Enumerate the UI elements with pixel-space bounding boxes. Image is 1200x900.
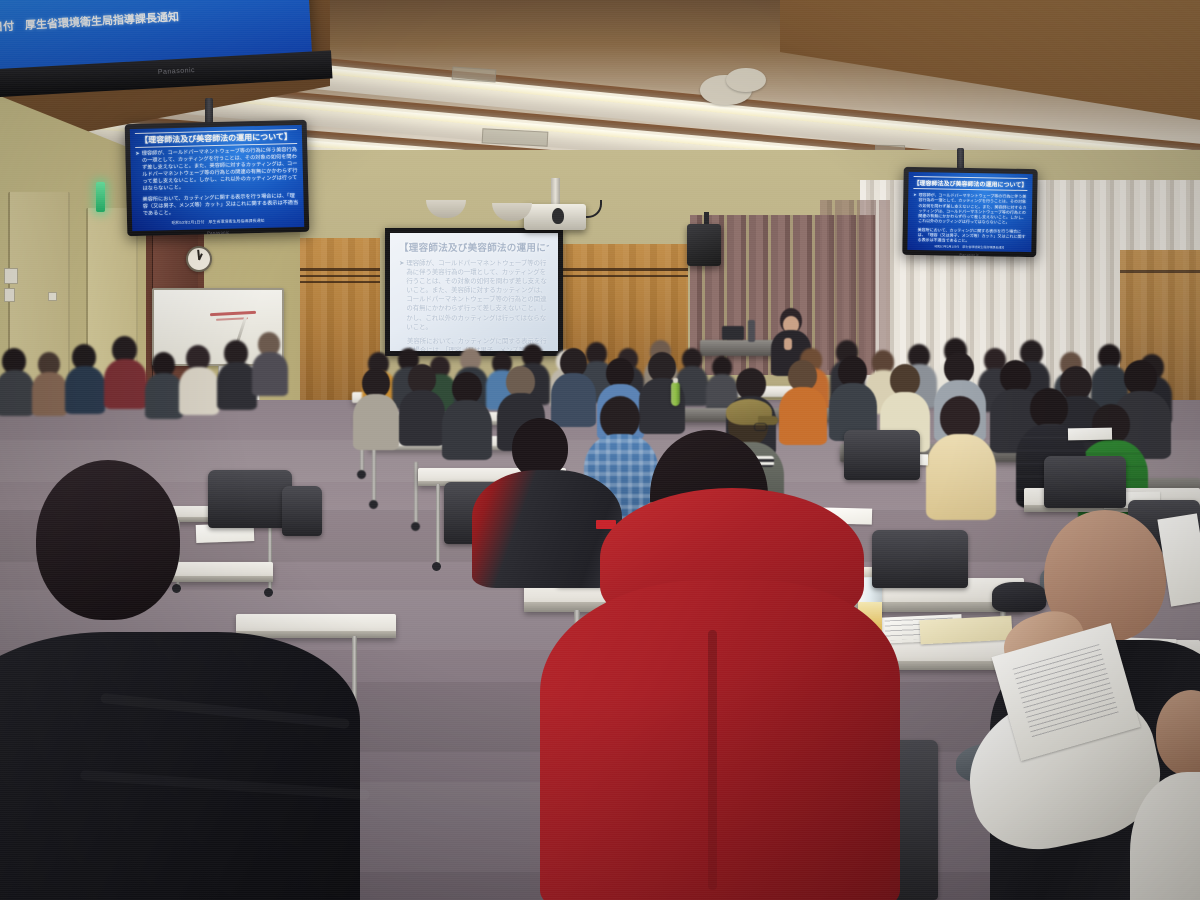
glasses-icon (754, 423, 767, 431)
ceiling-speaker (726, 68, 766, 92)
left-monitor-footer: 昭和53年2月1日付 厚生省環境衛生局指導課長通知 (137, 217, 299, 227)
projector-lens-icon (552, 208, 564, 224)
left-monitor: 【理容師法及び美容師法の運用について】 ➤ 理容師が、コールドパーマネントウェー… (125, 120, 310, 236)
handout-envelope[interactable] (919, 616, 1012, 645)
right-monitor-paragraph-2: 美容所において、カッティングに関する表示を行う場合には、「理容（又は男子、メンズ… (912, 227, 1026, 245)
left-monitor-paragraph-1: 理容師が、コールドパーマネントウェーブ等の行為に伴う美容行為の一環として、カッテ… (142, 147, 299, 193)
right-monitor-bullet-icon: ➤ (913, 192, 917, 224)
wall-speaker (687, 224, 721, 266)
green-tea-bottle (671, 382, 680, 406)
projection-screen: 【理容師法及び美容師法の運用について】 ➤ 理容師が、コールドパーマネントウェー… (385, 228, 563, 356)
microphone-stand (748, 320, 755, 342)
right-monitor-slide-title: 【理容師法及び美容師法の運用について】 (913, 176, 1027, 191)
chair[interactable] (282, 486, 322, 536)
chair[interactable] (1044, 456, 1126, 508)
av-equipment (722, 326, 744, 340)
left-monitor-mount (205, 98, 213, 124)
wall-sign (48, 292, 57, 301)
left-monitor-paragraph-2: 美容所において、カッティングに関する表示を行う場合には、「理容（又は男子、メンズ… (136, 193, 298, 218)
ceiling-projector (524, 204, 586, 230)
lecture-hall-photo: 【理容師法及び美容師法の運用について】 ➤ 理容師が、コールドパーマネントウェー… (0, 0, 1200, 900)
projection-slide-paragraph-1: 理容師が、コールドパーマネントウェーブ等の行為に伴う美容行為の一環として、カッテ… (406, 259, 549, 332)
shoulder-bag[interactable] (992, 582, 1046, 612)
right-monitor-brand: Panasonic (959, 253, 979, 257)
projection-slide-title: 【理容師法及び美容師法の運用について】 (399, 240, 549, 254)
right-monitor-mount (957, 148, 964, 170)
top-monitor-brand: Panasonic (158, 67, 196, 76)
left-monitor-brand: Panasonic (207, 230, 229, 236)
right-monitor-paragraph-1: 理容師が、コールドパーマネントウェーブ等の行為に伴う美容行為の一環として、カッテ… (918, 192, 1027, 225)
chair[interactable] (872, 530, 968, 588)
table-foreground-left (236, 614, 396, 638)
right-monitor: 【理容師法及び美容師法の運用について】 ➤ 理容師が、コールドパーマネントウェー… (902, 167, 1038, 257)
ceiling-vent (482, 128, 549, 146)
top-monitor-line-2: 1日付 厚生省環境衛生局指導課長通知 (0, 8, 179, 35)
chair[interactable] (208, 470, 292, 528)
wall-sign (4, 288, 15, 302)
left-monitor-bullet-icon: ➤ (135, 151, 140, 193)
exit-sign-icon (96, 182, 105, 212)
wall-clock (186, 246, 212, 272)
chair[interactable] (844, 430, 920, 480)
right-monitor-footer: 昭和53年2月1日付 厚生省環境衛生局指導課長通知 (912, 244, 1026, 250)
left-monitor-slide-title: 【理容師法及び美容師法の運用について】 (135, 129, 297, 148)
handout-paper[interactable] (1068, 428, 1112, 441)
projection-bullet-icon: ➤ (399, 259, 404, 332)
wall-sign (4, 268, 18, 284)
